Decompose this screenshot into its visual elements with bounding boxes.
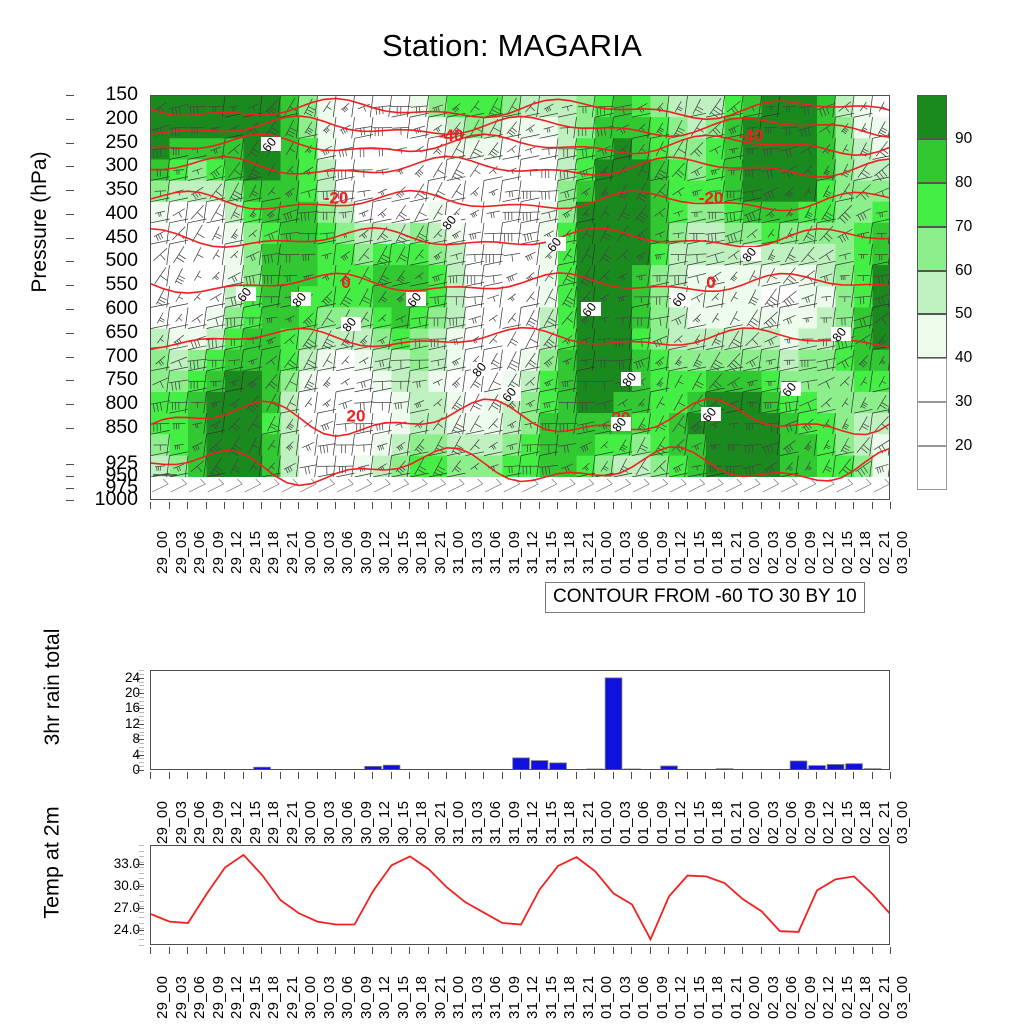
x-tick-label: 31_09 (507, 976, 522, 1019)
x-tick-label: 31_09 (507, 801, 522, 844)
main-y-tick-mark (66, 95, 74, 96)
main-y-tick-label: 550 (105, 275, 138, 295)
isotherm-label: 0 (706, 273, 715, 292)
x-tick-label: 02_06 (784, 531, 799, 574)
x-tick-label: 01_15 (692, 976, 707, 1019)
x-tick-label: 29_00 (155, 801, 170, 844)
x-tick-mark (465, 502, 466, 509)
colorbar-segment (917, 271, 947, 315)
temp-y-axis-ticks: 24.027.030.033.0 (86, 845, 144, 945)
x-tick-mark (853, 947, 854, 954)
x-tick-mark (539, 772, 540, 779)
x-tick-mark (761, 772, 762, 779)
rain-y-minor-tick (139, 674, 144, 675)
main-y-tick-mark (66, 190, 74, 191)
colorbar-tick-label: 30 (955, 394, 972, 410)
x-tick-mark (798, 772, 799, 779)
x-tick-label: 30_09 (359, 801, 374, 844)
x-tick-label: 30_21 (433, 531, 448, 574)
x-tick-mark (613, 502, 614, 509)
rain-y-minor-tick (139, 705, 144, 706)
x-tick-mark (761, 947, 762, 954)
x-tick-label: 01_21 (729, 976, 744, 1019)
x-tick-mark (668, 772, 669, 779)
rain-y-tick-mark (136, 693, 144, 694)
x-tick-mark (520, 947, 521, 954)
x-tick-label: 01_06 (636, 976, 651, 1019)
isotherm-label: -40 (739, 126, 764, 145)
x-tick-mark (631, 947, 632, 954)
x-tick-label: 31_12 (525, 531, 540, 574)
x-tick-mark (890, 772, 891, 779)
x-tick-mark (169, 947, 170, 954)
rain-x-axis: 29_0029_0329_0629_0929_1229_1529_1829_21… (150, 772, 890, 848)
isotherm-label: -20 (699, 189, 724, 208)
x-tick-label: 02_09 (803, 801, 818, 844)
rain-y-minor-tick (139, 728, 144, 729)
temp-y-minor-tick (139, 906, 144, 907)
main-y-tick-mark (66, 476, 74, 477)
main-y-tick-label: 800 (105, 394, 138, 414)
temp-y-minor-tick (139, 862, 144, 863)
x-tick-mark (668, 502, 669, 509)
x-tick-mark (835, 772, 836, 779)
x-tick-mark (224, 502, 225, 509)
x-tick-label: 31_00 (451, 976, 466, 1019)
temp-y-tick-mark (136, 886, 144, 887)
x-tick-mark (298, 947, 299, 954)
rain-y-tick-mark (136, 724, 144, 725)
x-tick-mark (687, 772, 688, 779)
x-tick-label: 02_18 (858, 531, 873, 574)
x-tick-label: 02_03 (766, 531, 781, 574)
colorbar (917, 95, 947, 490)
x-tick-label: 01_12 (673, 976, 688, 1019)
temp-y-minor-tick (139, 912, 144, 913)
x-tick-label: 02_12 (821, 531, 836, 574)
x-tick-label: 31_12 (525, 801, 540, 844)
rain-bar (531, 761, 548, 770)
x-tick-label: 02_03 (766, 976, 781, 1019)
colorbar-segment (917, 446, 947, 490)
colorbar-segment (917, 402, 947, 446)
x-tick-mark (613, 772, 614, 779)
rain-y-minor-tick (139, 735, 144, 736)
rain-bar (661, 766, 678, 770)
x-tick-label: 01_09 (655, 531, 670, 574)
rain-panel (150, 670, 890, 770)
x-tick-label: 31_15 (544, 531, 559, 574)
main-y-tick-label: 300 (105, 156, 138, 176)
x-tick-mark (816, 772, 817, 779)
x-tick-label: 30_00 (303, 976, 318, 1019)
temp-line (151, 855, 890, 939)
x-tick-label: 29_06 (192, 801, 207, 844)
rain-bar (827, 765, 844, 771)
main-y-tick-mark (66, 500, 74, 501)
temp-canvas (151, 846, 890, 945)
rain-y-minor-tick (139, 685, 144, 686)
x-tick-label: 02_06 (784, 976, 799, 1019)
temp-y-minor-tick (139, 895, 144, 896)
x-tick-mark (650, 502, 651, 509)
temp-y-minor-tick (139, 939, 144, 940)
isotherm-label: -20 (324, 189, 349, 208)
colorbar-tick-label: 70 (955, 219, 972, 235)
rain-y-minor-tick (139, 697, 144, 698)
main-y-tick-label: 350 (105, 180, 138, 200)
x-tick-mark (187, 772, 188, 779)
x-tick-mark (779, 502, 780, 509)
x-tick-label: 31_18 (562, 801, 577, 844)
x-tick-mark (243, 772, 244, 779)
x-tick-label: 30_06 (340, 531, 355, 574)
x-tick-mark (206, 772, 207, 779)
main-y-tick-mark (66, 309, 74, 310)
x-tick-mark (224, 772, 225, 779)
temp-y-tick-mark (136, 908, 144, 909)
main-y-tick-mark (66, 333, 74, 334)
colorbar-segment (917, 183, 947, 227)
temp-y-minor-tick (139, 923, 144, 924)
temp-y-minor-tick (139, 901, 144, 902)
x-tick-label: 01_09 (655, 801, 670, 844)
x-tick-label: 31_00 (451, 801, 466, 844)
temp-y-minor-tick (139, 889, 144, 890)
x-tick-mark (742, 772, 743, 779)
colorbar-segment (917, 314, 947, 358)
x-tick-mark (594, 947, 595, 954)
main-y-axis-ticks: 1502002503003504004505005506006507007508… (66, 95, 144, 500)
x-tick-label: 30_18 (414, 531, 429, 574)
x-tick-label: 01_18 (710, 531, 725, 574)
temp-y-minor-tick (139, 845, 144, 846)
x-tick-label: 31_03 (470, 976, 485, 1019)
main-y-tick-mark (66, 143, 74, 144)
x-tick-mark (872, 772, 873, 779)
x-tick-mark (557, 772, 558, 779)
x-tick-label: 01_15 (692, 531, 707, 574)
x-tick-mark (428, 947, 429, 954)
x-tick-mark (557, 947, 558, 954)
x-tick-label: 02_03 (766, 801, 781, 844)
x-tick-label: 29_15 (248, 976, 263, 1019)
temp-plot-area (150, 845, 890, 945)
x-tick-label: 01_03 (618, 801, 633, 844)
x-tick-mark (539, 502, 540, 509)
x-tick-label: 29_18 (266, 531, 281, 574)
x-tick-label: 02_18 (858, 801, 873, 844)
x-tick-mark (483, 947, 484, 954)
x-tick-mark (853, 772, 854, 779)
x-tick-mark (520, 502, 521, 509)
x-tick-label: 01_00 (599, 531, 614, 574)
x-tick-label: 02_00 (747, 531, 762, 574)
x-tick-mark (668, 947, 669, 954)
x-tick-mark (539, 947, 540, 954)
temp-y-axis-title: Temp at 2m (40, 743, 65, 983)
x-tick-label: 02_21 (877, 531, 892, 574)
x-tick-label: 30_21 (433, 976, 448, 1019)
x-tick-mark (280, 502, 281, 509)
x-tick-mark (409, 502, 410, 509)
x-tick-label: 02_21 (877, 976, 892, 1019)
rain-bar (513, 758, 530, 770)
x-tick-mark (354, 502, 355, 509)
rain-bar (864, 769, 881, 770)
rain-y-minor-tick (139, 758, 144, 759)
main-y-tick-mark (66, 357, 74, 358)
x-tick-mark (298, 772, 299, 779)
main-y-tick-label: 450 (105, 228, 138, 248)
rain-bar (365, 766, 382, 770)
x-tick-label: 01_09 (655, 976, 670, 1019)
x-tick-label: 31_21 (581, 801, 596, 844)
temp-panel (150, 845, 890, 945)
x-tick-mark (724, 947, 725, 954)
rain-bar (587, 769, 604, 770)
x-tick-label: 30_15 (396, 531, 411, 574)
x-tick-mark (650, 772, 651, 779)
rain-bar (716, 769, 733, 770)
isotherm-label: 20 (347, 406, 366, 425)
x-tick-mark (816, 502, 817, 509)
rain-y-minor-tick (139, 732, 144, 733)
x-tick-mark (446, 947, 447, 954)
temp-y-minor-tick (139, 856, 144, 857)
colorbar-labels: 9080706050403020 (955, 95, 1015, 490)
x-tick-label: 03_00 (895, 531, 910, 574)
rain-bar (846, 764, 863, 770)
temp-y-minor-tick (139, 884, 144, 885)
rain-bar (254, 767, 271, 770)
main-y-tick-label: 750 (105, 370, 138, 390)
x-tick-label: 30_06 (340, 801, 355, 844)
x-tick-mark (816, 947, 817, 954)
main-y-tick-mark (66, 119, 74, 120)
colorbar-tick-label: 60 (955, 263, 972, 279)
main-y-tick-mark (66, 464, 74, 465)
main-y-tick-mark (66, 380, 74, 381)
x-tick-mark (446, 772, 447, 779)
x-tick-label: 01_03 (618, 531, 633, 574)
x-tick-label: 01_00 (599, 976, 614, 1019)
x-tick-label: 29_12 (229, 531, 244, 574)
rain-bars (254, 678, 881, 770)
x-tick-mark (742, 947, 743, 954)
x-tick-label: 31_15 (544, 801, 559, 844)
temp-y-minor-tick (139, 945, 144, 946)
colorbar-tick-label: 80 (955, 175, 972, 191)
x-tick-mark (261, 772, 262, 779)
x-tick-mark (779, 947, 780, 954)
x-tick-label: 01_18 (710, 976, 725, 1019)
rain-bar (383, 765, 400, 770)
x-tick-label: 29_03 (174, 801, 189, 844)
x-tick-label: 02_06 (784, 801, 799, 844)
rain-y-minor-tick (139, 689, 144, 690)
x-tick-label: 31_03 (470, 801, 485, 844)
rain-y-minor-tick (139, 751, 144, 752)
x-tick-label: 30_09 (359, 531, 374, 574)
x-tick-label: 29_03 (174, 531, 189, 574)
rain-y-minor-tick (139, 743, 144, 744)
x-tick-mark (520, 772, 521, 779)
x-tick-mark (798, 947, 799, 954)
x-tick-label: 30_09 (359, 976, 374, 1019)
rain-y-minor-tick (139, 716, 144, 717)
x-tick-mark (687, 947, 688, 954)
rain-y-minor-tick (139, 762, 144, 763)
x-tick-label: 29_21 (285, 801, 300, 844)
figure-root: Station: MAGARIA Pressure (hPa) 15020025… (0, 0, 1024, 1024)
x-tick-mark (465, 772, 466, 779)
x-tick-label: 31_00 (451, 531, 466, 574)
x-tick-mark (502, 947, 503, 954)
x-tick-label: 01_00 (599, 801, 614, 844)
rain-y-minor-tick (139, 766, 144, 767)
x-tick-label: 31_12 (525, 976, 540, 1019)
x-tick-mark (243, 502, 244, 509)
x-tick-mark (650, 947, 651, 954)
temp-y-minor-tick (139, 934, 144, 935)
x-tick-label: 02_15 (840, 976, 855, 1019)
x-tick-label: 01_21 (729, 531, 744, 574)
main-y-tick-mark (66, 428, 74, 429)
x-tick-mark (613, 947, 614, 954)
x-tick-mark (354, 772, 355, 779)
x-tick-mark (298, 502, 299, 509)
x-tick-mark (206, 502, 207, 509)
x-tick-label: 30_06 (340, 976, 355, 1019)
x-tick-mark (557, 502, 558, 509)
x-tick-label: 02_09 (803, 976, 818, 1019)
temp-y-tick-mark (136, 864, 144, 865)
cross-section-plot-area: -40-40-20-200020206080608060806080608060… (150, 95, 890, 500)
x-tick-label: 29_06 (192, 976, 207, 1019)
x-tick-label: 02_15 (840, 531, 855, 574)
x-tick-mark (687, 502, 688, 509)
x-tick-mark (872, 502, 873, 509)
rain-y-tick-mark (136, 678, 144, 679)
x-tick-mark (280, 772, 281, 779)
temp-y-minor-tick (139, 873, 144, 874)
x-tick-label: 31_06 (488, 801, 503, 844)
x-tick-label: 01_06 (636, 801, 651, 844)
x-tick-mark (576, 947, 577, 954)
x-tick-mark (705, 502, 706, 509)
x-tick-label: 02_00 (747, 976, 762, 1019)
main-y-tick-mark (66, 261, 74, 262)
x-tick-label: 29_12 (229, 801, 244, 844)
x-tick-mark (169, 502, 170, 509)
x-tick-label: 30_12 (377, 531, 392, 574)
x-tick-mark (261, 502, 262, 509)
colorbar-tick-label: 90 (955, 131, 972, 147)
x-tick-label: 29_09 (211, 801, 226, 844)
x-tick-mark (835, 502, 836, 509)
x-tick-label: 30_18 (414, 801, 429, 844)
main-y-tick-mark (66, 166, 74, 167)
temp-x-axis: 29_0029_0329_0629_0929_1229_1529_1829_21… (150, 947, 890, 1023)
x-tick-label: 30_12 (377, 976, 392, 1019)
rain-bar (550, 763, 567, 770)
x-tick-mark (483, 772, 484, 779)
main-y-tick-label: 650 (105, 323, 138, 343)
x-tick-label: 29_21 (285, 531, 300, 574)
rain-y-tick-mark (136, 739, 144, 740)
temp-y-minor-tick (139, 878, 144, 879)
rain-y-minor-tick (139, 701, 144, 702)
colorbar-tick-label: 50 (955, 306, 972, 322)
main-y-tick-label: 1000 (95, 490, 138, 510)
rain-bar (605, 678, 622, 770)
x-tick-label: 30_03 (322, 531, 337, 574)
x-tick-label: 30_03 (322, 976, 337, 1019)
x-tick-label: 29_09 (211, 531, 226, 574)
x-tick-label: 31_06 (488, 976, 503, 1019)
x-tick-label: 31_09 (507, 531, 522, 574)
x-tick-mark (280, 947, 281, 954)
x-tick-label: 02_21 (877, 801, 892, 844)
x-tick-label: 29_12 (229, 976, 244, 1019)
x-tick-label: 01_15 (692, 801, 707, 844)
rain-plot-area (150, 670, 890, 770)
x-tick-label: 29_18 (266, 976, 281, 1019)
x-tick-label: 01_12 (673, 801, 688, 844)
x-tick-mark (631, 502, 632, 509)
x-tick-mark (150, 947, 151, 954)
rain-y-minor-tick (139, 747, 144, 748)
x-tick-mark (391, 947, 392, 954)
x-tick-mark (206, 947, 207, 954)
x-tick-mark (335, 502, 336, 509)
x-tick-label: 03_00 (895, 976, 910, 1019)
x-tick-mark (502, 502, 503, 509)
x-tick-mark (576, 502, 577, 509)
main-y-tick-label: 500 (105, 251, 138, 271)
x-tick-label: 31_15 (544, 976, 559, 1019)
x-tick-mark (317, 772, 318, 779)
x-tick-label: 03_00 (895, 801, 910, 844)
x-tick-mark (446, 502, 447, 509)
main-y-tick-label: 250 (105, 133, 138, 153)
cross-section-panel: -40-40-20-200020206080608060806080608060… (150, 95, 890, 500)
x-tick-label: 30_15 (396, 976, 411, 1019)
x-tick-mark (372, 502, 373, 509)
x-tick-label: 31_18 (562, 976, 577, 1019)
x-tick-label: 30_21 (433, 801, 448, 844)
x-tick-mark (705, 947, 706, 954)
x-tick-mark (465, 947, 466, 954)
isotherm-label: 0 (341, 273, 350, 292)
x-tick-label: 01_06 (636, 531, 651, 574)
colorbar-segment (917, 139, 947, 183)
x-tick-mark (742, 502, 743, 509)
main-y-tick-mark (66, 285, 74, 286)
colorbar-segment (917, 227, 947, 271)
x-tick-label: 29_09 (211, 976, 226, 1019)
main-y-tick-mark (66, 238, 74, 239)
x-tick-mark (890, 502, 891, 509)
x-tick-label: 02_09 (803, 531, 818, 574)
x-tick-label: 01_03 (618, 976, 633, 1019)
x-tick-label: 29_06 (192, 531, 207, 574)
x-tick-mark (890, 947, 891, 954)
isotherm-label: -40 (439, 126, 464, 145)
temp-y-minor-tick (139, 928, 144, 929)
temp-y-minor-tick (139, 917, 144, 918)
